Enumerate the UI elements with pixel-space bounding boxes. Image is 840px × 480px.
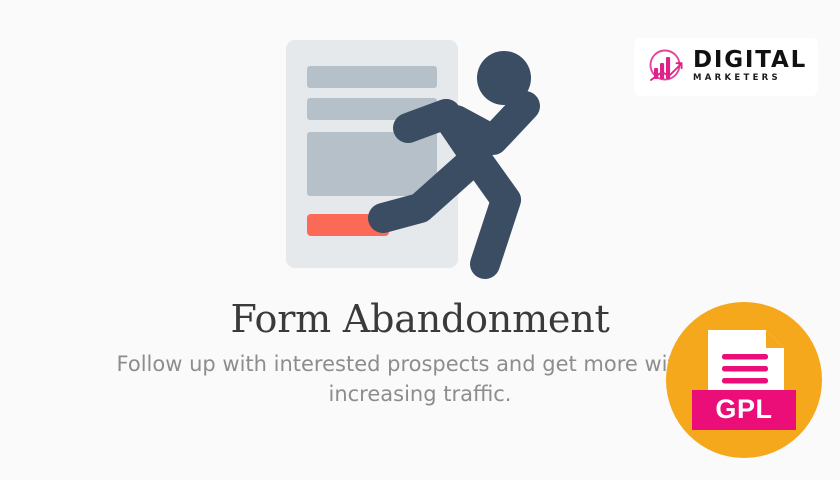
gpl-label: GPL [715,394,772,424]
bar-chart-circle-icon [646,48,686,86]
textarea-block [307,132,437,196]
runner-head [477,51,531,105]
brand-logo[interactable]: DIGITAL MARKETERS [634,38,818,96]
input-line-1 [307,66,437,88]
brand-secondary-text: MARKETERS [693,72,807,85]
brand-primary-text: DIGITAL [693,49,807,72]
gpl-badge[interactable]: GPL [666,302,822,458]
form-abandonment-running-person-icon [280,28,580,280]
